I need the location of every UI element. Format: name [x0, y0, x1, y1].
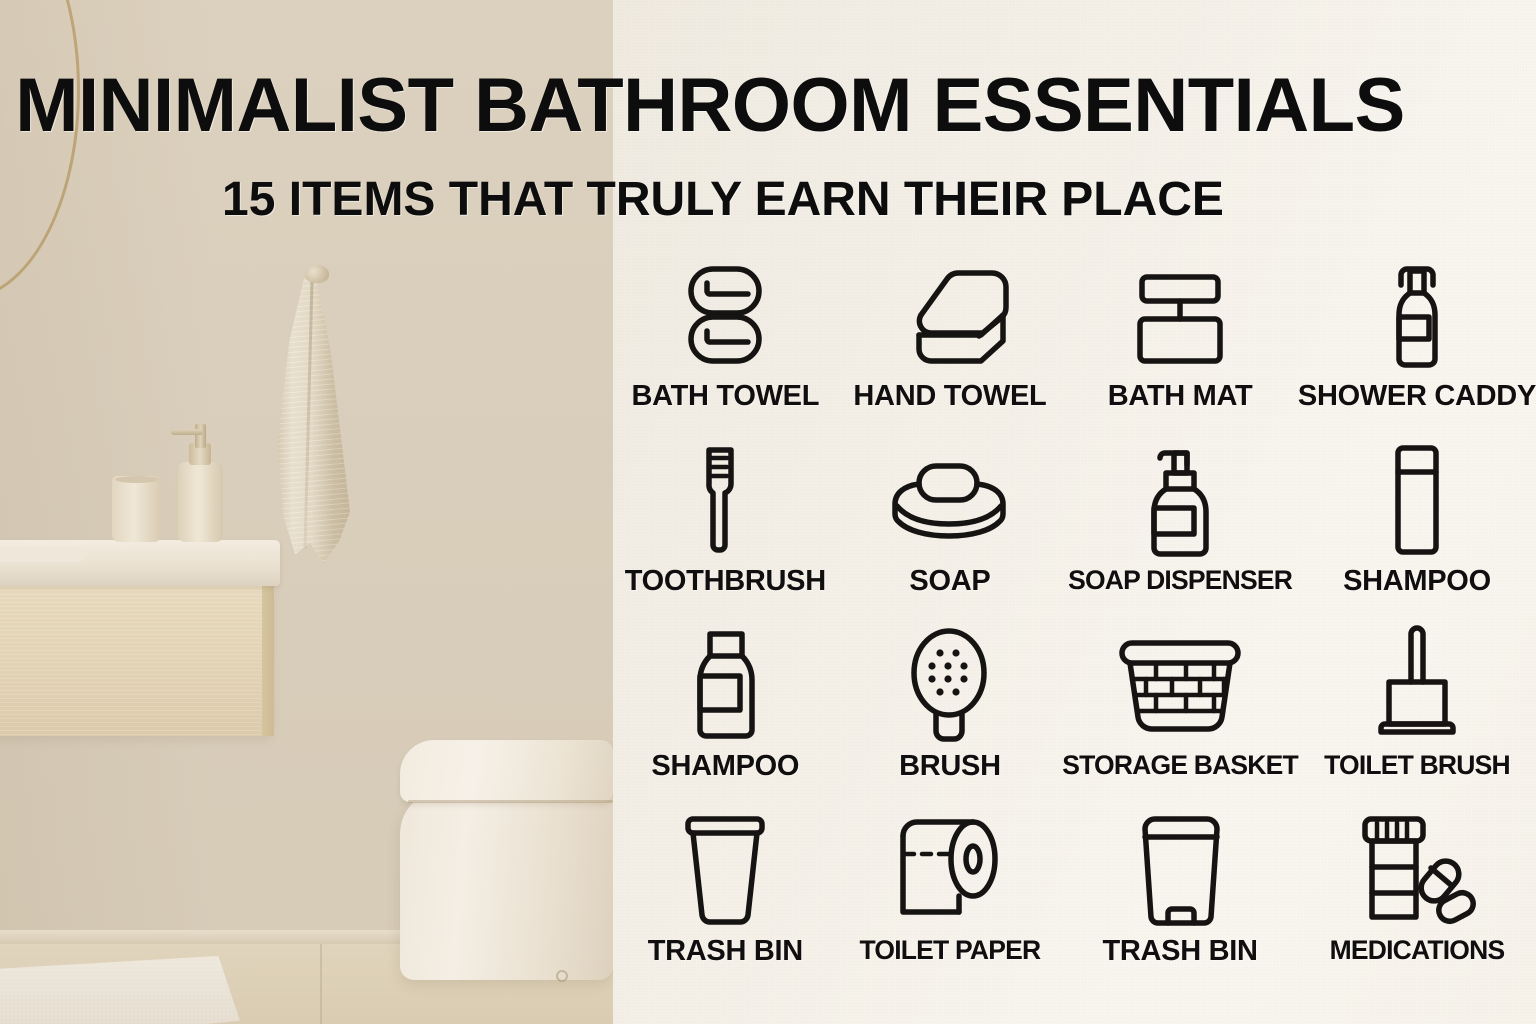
toilet-seat-lid	[400, 740, 613, 802]
page-subtitle: 15 ITEMS THAT TRULY EARN THEIR PLACE	[0, 172, 1446, 227]
grid-item-shower-caddy[interactable]: SHOWER CADDY	[1298, 256, 1536, 441]
page-title: MINIMALIST BATHROOM ESSENTIALS	[0, 62, 1420, 149]
toothbrush-icon	[655, 441, 795, 559]
sink-basin	[0, 546, 85, 562]
trash-bin-pedal-icon	[1110, 811, 1250, 929]
grid-item-label: TOOTHBRUSH	[625, 565, 826, 598]
shampoo-bottle-icon	[655, 626, 795, 744]
storage-basket-icon	[1110, 626, 1250, 744]
grid-item-label: MEDICATIONS	[1330, 935, 1505, 966]
grid-item-label: BATH TOWEL	[631, 380, 819, 413]
grid-item-shampoo[interactable]: SHAMPOO	[613, 626, 838, 811]
grid-item-bath-towel[interactable]: BATH TOWEL	[613, 256, 838, 441]
grid-item-label: SOAP	[909, 565, 990, 598]
soap-dispenser-nozzle	[171, 429, 203, 435]
vanity-cabinet-edge	[262, 586, 274, 736]
folded-hand-towel-icon	[880, 256, 1020, 374]
wall-hook-icon	[305, 265, 329, 283]
soap-bar-dish-icon	[880, 441, 1020, 559]
toilet-paper-roll-icon	[880, 811, 1020, 929]
vanity-cabinet	[0, 586, 272, 736]
grid-item-label: BRUSH	[899, 750, 1001, 783]
grid-item-storage-basket[interactable]: STORAGE BASKET	[1062, 626, 1298, 811]
tumbler-cup	[112, 476, 161, 542]
grid-item-soap[interactable]: SOAP	[838, 441, 1063, 626]
shower-caddy-bottle-icon	[1347, 256, 1487, 374]
grid-item-bath-mat[interactable]: BATH MAT	[1062, 256, 1298, 441]
essentials-grid: BATH TOWEL HAND TOWEL BATH MAT	[613, 256, 1536, 996]
grid-item-label: SHOWER CADDY	[1298, 380, 1536, 413]
grid-item-label: TRASH BIN	[648, 935, 803, 968]
shampoo-tall-bottle-icon	[1347, 441, 1487, 559]
grid-item-hand-towel[interactable]: HAND TOWEL	[838, 256, 1063, 441]
bathroom-photo	[0, 0, 613, 1024]
grid-item-label: HAND TOWEL	[853, 380, 1046, 413]
round-mirror	[0, 0, 80, 300]
grid-item-shampoo-tall[interactable]: SHAMPOO	[1298, 441, 1536, 626]
hair-brush-icon	[880, 626, 1020, 744]
grid-item-label: TOILET PAPER	[860, 935, 1041, 966]
grid-item-label: SOAP DISPENSER	[1068, 565, 1292, 596]
medication-bottle-icon	[1347, 811, 1487, 929]
toilet-brush-icon	[1347, 626, 1487, 744]
folded-bath-towel-icon	[655, 256, 795, 374]
soap-dispenser-icon	[1110, 441, 1250, 559]
soap-dispenser-body	[178, 462, 223, 542]
toilet-bowl	[400, 790, 613, 980]
toilet-flush-button	[556, 970, 568, 982]
grid-item-label: SHAMPOO	[651, 750, 799, 783]
grid-item-brush[interactable]: BRUSH	[838, 626, 1063, 811]
grid-item-toilet-paper[interactable]: TOILET PAPER	[838, 811, 1063, 996]
bath-mat-icon	[1110, 256, 1250, 374]
grid-item-label: BATH MAT	[1108, 380, 1253, 413]
grid-item-label: SHAMPOO	[1343, 565, 1491, 598]
grid-item-label: TRASH BIN	[1102, 935, 1257, 968]
grid-item-medications[interactable]: MEDICATIONS	[1298, 811, 1536, 996]
grid-item-trash-bin-open[interactable]: TRASH BIN	[613, 811, 838, 996]
toilet-seam	[408, 800, 613, 803]
soap-dispenser-stem	[195, 424, 206, 448]
grid-item-label: STORAGE BASKET	[1062, 750, 1298, 781]
grid-item-toothbrush[interactable]: TOOTHBRUSH	[613, 441, 838, 626]
grid-item-label: TOILET BRUSH	[1324, 750, 1510, 781]
grid-item-toilet-brush[interactable]: TOILET BRUSH	[1298, 626, 1536, 811]
grid-item-trash-bin-pedal[interactable]: TRASH BIN	[1062, 811, 1298, 996]
trash-bin-open-icon	[655, 811, 795, 929]
hanging-hand-towel	[276, 278, 350, 563]
grid-item-soap-dispenser[interactable]: SOAP DISPENSER	[1062, 441, 1298, 626]
tile-grout-line	[320, 944, 322, 1024]
